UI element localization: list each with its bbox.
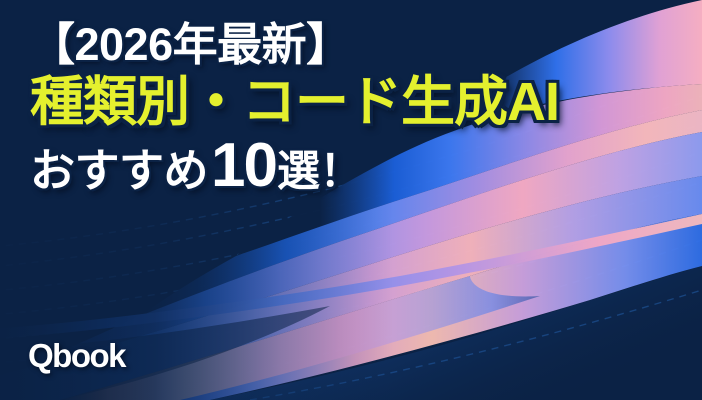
headline-line-1: 【2026年最新】 xyxy=(30,22,650,67)
headline-count-number: 10 xyxy=(211,135,276,197)
headline-line-3: おすすめ 10 選！ xyxy=(30,135,650,197)
qbook-logo: Qbook xyxy=(28,339,125,372)
headline-line-2: 種類別・コード生成AI xyxy=(30,75,650,129)
headline-block: 【2026年最新】 種類別・コード生成AI おすすめ 10 選！ xyxy=(30,22,650,197)
promo-banner: 【2026年最新】 種類別・コード生成AI おすすめ 10 選！ Qbook xyxy=(0,0,702,400)
headline-line-3-suffix: 選！ xyxy=(277,151,362,194)
headline-line-3-prefix: おすすめ xyxy=(30,148,208,193)
